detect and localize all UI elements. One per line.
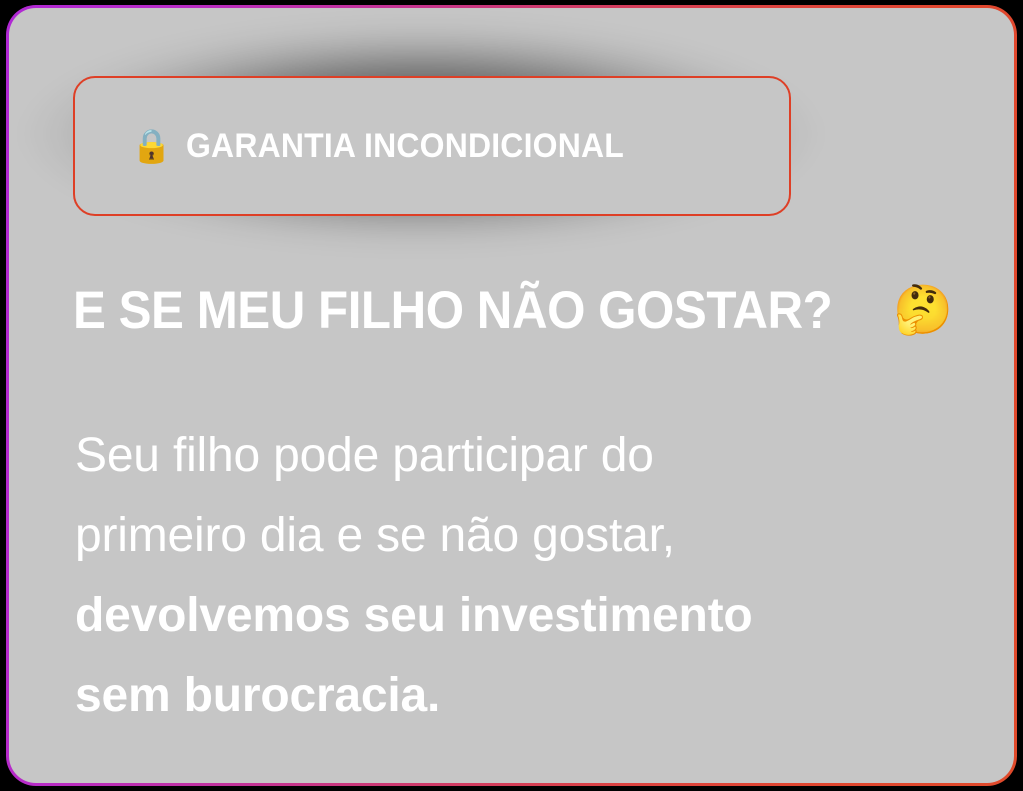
body-line: devolvemos seu investimento: [75, 576, 955, 656]
body-line: primeiro dia e se não gostar,: [75, 496, 955, 576]
guarantee-badge[interactable]: 🔒 GARANTIA INCONDICIONAL: [73, 76, 791, 216]
card-surface: 🔒 GARANTIA INCONDICIONAL E SE MEU FILHO …: [9, 8, 1014, 783]
body-copy: Seu filho pode participar doprimeiro dia…: [75, 416, 955, 736]
page-title: E SE MEU FILHO NÃO GOSTAR? 🤔: [73, 280, 983, 341]
body-line: sem burocracia.: [75, 656, 955, 736]
guarantee-card: 🔒 GARANTIA INCONDICIONAL E SE MEU FILHO …: [6, 5, 1017, 786]
guarantee-badge-label: GARANTIA INCONDICIONAL: [186, 127, 624, 166]
body-line: Seu filho pode participar do: [75, 416, 955, 496]
lock-icon: 🔒: [131, 129, 172, 162]
thinking-face-icon: 🤔: [893, 287, 953, 335]
headline-text: E SE MEU FILHO NÃO GOSTAR?: [73, 280, 832, 341]
